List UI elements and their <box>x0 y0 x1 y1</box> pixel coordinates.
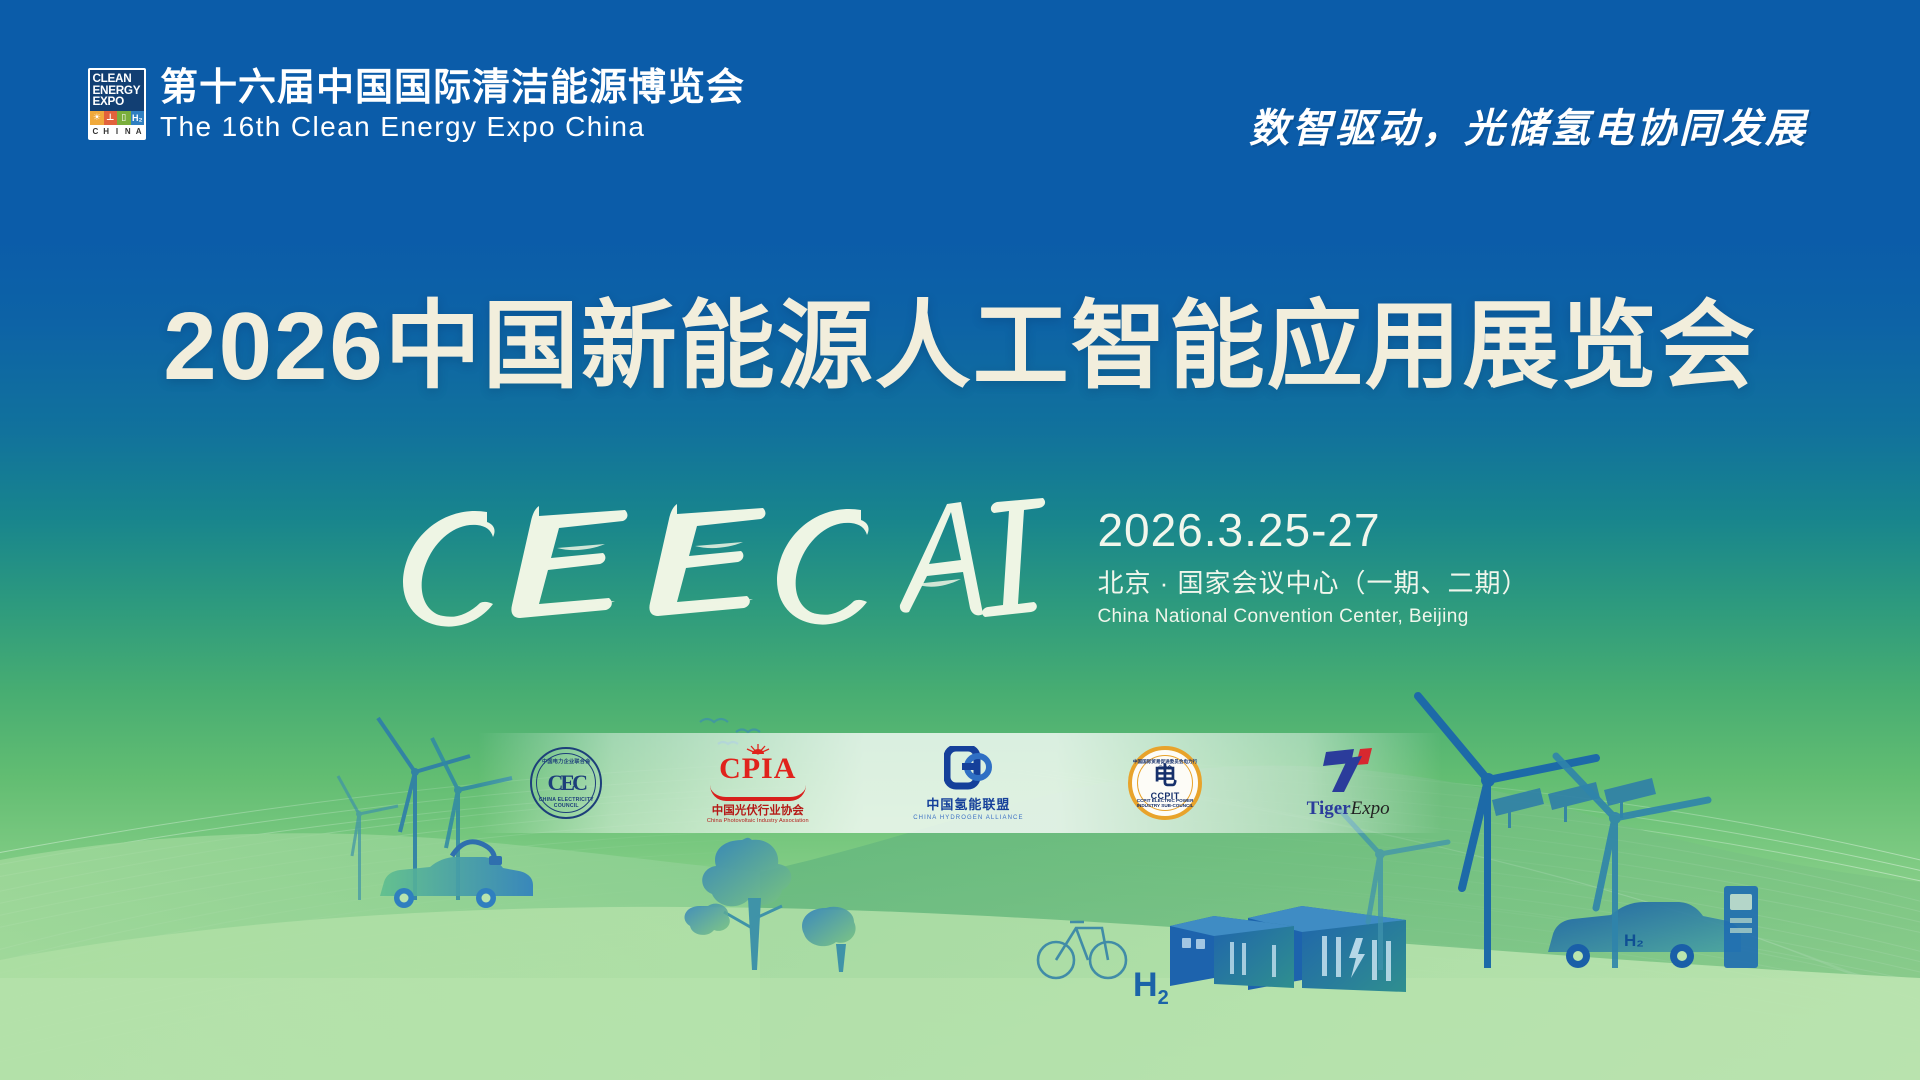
cha-name-cn: 中国氢能联盟 <box>926 794 1010 813</box>
sun-icon: ☀ <box>90 111 104 126</box>
ccpit-ring-bottom: CCPIT ELECTRIC POWER INDUSTRY SUB-COUNCI… <box>1132 798 1198 808</box>
event-tagline: 数智驱动，光储氢电协同发展 <box>1249 96 1808 154</box>
venue-en: China National Convention Center, Beijin… <box>1097 606 1528 628</box>
cec-arc-top: 中国电力企业联合会 <box>532 758 600 765</box>
country-letter: I <box>112 125 123 138</box>
battery-icon: ▯ <box>117 111 131 126</box>
country-letter: A <box>133 125 144 138</box>
tiger-expo-mid: iger <box>1319 798 1351 819</box>
tiger-expo-suffix: Expo <box>1351 798 1390 819</box>
event-date-venue: 2026.3.25-27 北京 · 国家会议中心（一期、二期） China Na… <box>1097 488 1528 628</box>
ccpit-seal-icon: 中国国际贸易促进委员会电力行业分会 电 CCPIT CCPIT ELECTRIC… <box>1128 746 1202 820</box>
ccpit-ring-top: 中国国际贸易促进委员会电力行业分会 <box>1132 759 1198 771</box>
logo-line-3: EXPO <box>93 97 142 109</box>
country-letter: N <box>122 125 133 138</box>
sponsor-logo-cec: 中国电力企业联合会 CEC CHINA ELECTRICITY COUNCIL <box>530 737 602 829</box>
cec-arc-bottom: CHINA ELECTRICITY COUNCIL <box>532 797 600 809</box>
expo-name-block: 第十六届中国国际清洁能源博览会 The 16th Clean Energy Ex… <box>160 68 745 144</box>
cpia-name-cn: 中国光伏行业协会 <box>712 802 804 818</box>
logo-country-row: C H I N A <box>90 125 144 138</box>
sponsor-logo-ccpit: 中国国际贸易促进委员会电力行业分会 电 CCPIT CCPIT ELECTRIC… <box>1128 737 1202 829</box>
expo-name-en: The 16th Clean Energy Expo China <box>160 110 745 144</box>
sunrise-icon <box>745 743 771 755</box>
cpia-arc <box>710 785 806 801</box>
h2-label: H2 <box>1133 966 1169 1010</box>
logo-swatch-row: ☀ ⊥ ▯ H₂ <box>90 111 144 126</box>
event-date: 2026.3.25-27 <box>1097 506 1528 554</box>
cec-monogram: CEC <box>548 770 585 796</box>
expo-name-cn: 第十六届中国国际清洁能源博览会 <box>160 68 745 108</box>
promo-banner: H₂ <box>0 0 1920 1080</box>
sponsor-logo-strip: 中国电力企业联合会 CEC CHINA ELECTRICITY COUNCIL … <box>478 733 1442 833</box>
country-letter: C <box>90 125 101 138</box>
energy-landscape-illustration: H₂ <box>0 660 1920 1080</box>
wind-turbine-icon: ⊥ <box>104 111 118 126</box>
tiger-expo-prefix: T <box>1307 798 1319 819</box>
svg-text:H₂: H₂ <box>1624 931 1644 950</box>
page-title: 2026中国新能源人工智能应用展览会 <box>0 268 1920 407</box>
hydrogen-icon: H₂ <box>131 111 145 126</box>
sponsor-logo-china-hydrogen-alliance: 中国氢能联盟 CHINA HYDROGEN ALLIANCE <box>913 737 1023 829</box>
cec-seal-icon: 中国电力企业联合会 CEC CHINA ELECTRICITY COUNCIL <box>530 747 602 819</box>
sponsor-logo-tiger-expo: TigerExpo <box>1307 737 1390 829</box>
expo-brand-block: CLEAN ENERGY EXPO ☀ ⊥ ▯ H₂ C H I N A <box>88 68 745 144</box>
tiger-expo-mark-icon <box>1318 746 1378 794</box>
sponsor-logo-cpia: CPIA 中国光伏行业协会 China Photovoltaic Industr… <box>707 737 809 829</box>
tiger-expo-wordmark: TigerExpo <box>1307 798 1390 820</box>
cha-name-en: CHINA HYDROGEN ALLIANCE <box>913 815 1023 821</box>
ceec-ai-wordmark <box>391 488 1051 628</box>
banner-header: CLEAN ENERGY EXPO ☀ ⊥ ▯ H₂ C H I N A <box>0 0 1920 170</box>
hydrogen-alliance-icon <box>944 746 992 790</box>
event-lockup: 2026.3.25-27 北京 · 国家会议中心（一期、二期） China Na… <box>0 488 1920 628</box>
cpia-name-en: China Photovoltaic Industry Association <box>707 818 809 824</box>
clean-energy-expo-logo-icon: CLEAN ENERGY EXPO ☀ ⊥ ▯ H₂ C H I N A <box>88 68 146 140</box>
cpia-wordmark: CPIA <box>719 754 796 784</box>
venue-cn: 北京 · 国家会议中心（一期、二期） <box>1097 563 1528 600</box>
country-letter: H <box>101 125 112 138</box>
